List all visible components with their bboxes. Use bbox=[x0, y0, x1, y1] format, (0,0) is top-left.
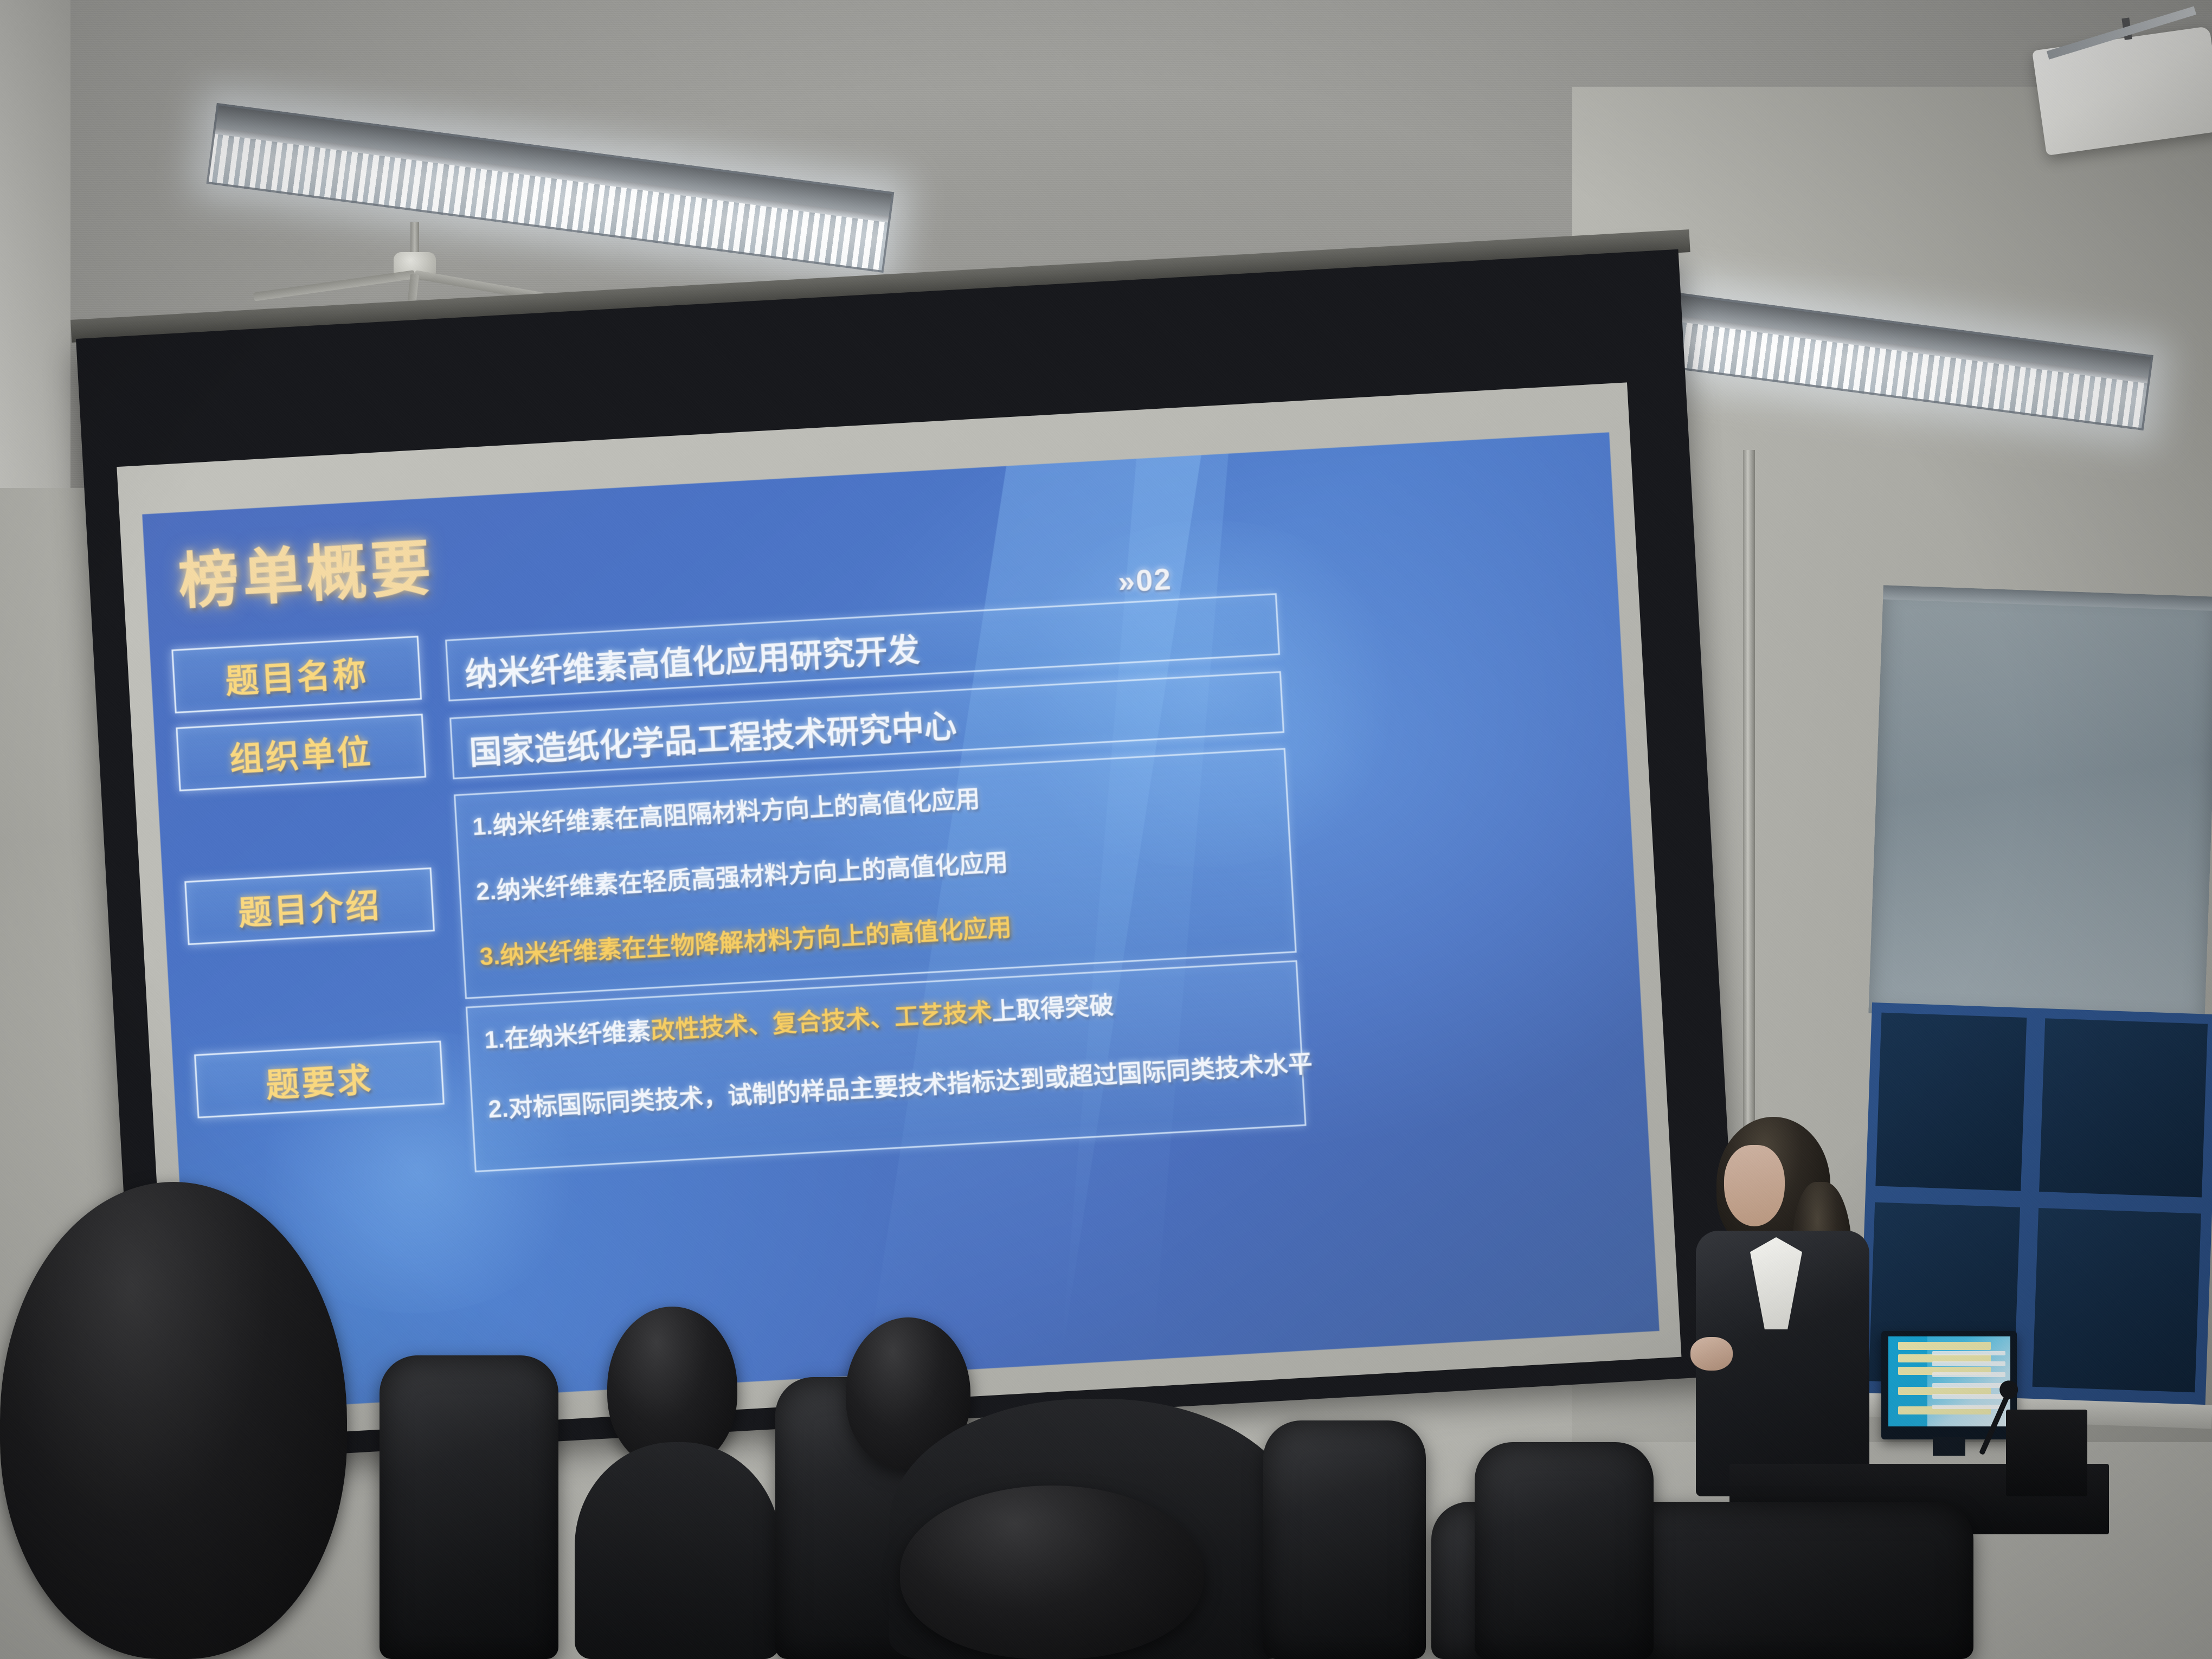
audience-head-1 bbox=[0, 1182, 347, 1659]
presenter-face bbox=[1724, 1145, 1785, 1226]
req-1-highlight: 改性技术、复合技术、工艺技术 bbox=[650, 998, 993, 1045]
row-content-3-line-2: 2.纳米纤维素在轻质高强材料方向上的高值化应用 bbox=[475, 843, 1009, 908]
row-label-2: 组织单位 bbox=[228, 724, 374, 781]
audience-chair-3 bbox=[1263, 1420, 1426, 1659]
audience-chair-1 bbox=[380, 1355, 558, 1659]
ceiling-fan-left bbox=[412, 222, 417, 228]
row-label-3: 题目介绍 bbox=[237, 878, 383, 935]
presenter-hand bbox=[1690, 1337, 1733, 1371]
row-content-1-line-1: 纳米纤维素高值化应用研究开发 bbox=[464, 623, 921, 696]
req-1-part-b: 上取得突破 bbox=[991, 991, 1115, 1025]
audience-chair-5 bbox=[1475, 1442, 1654, 1659]
page-number: »02 bbox=[1117, 561, 1173, 599]
row-content-3-line-1: 1.纳米纤维素在高阻隔材料方向上的高值化应用 bbox=[471, 779, 981, 842]
classroom-presentation-photo: 榜单概要 »02 题目名称 纳米纤维素高值化应用研究开发 组织单位 国家造纸化学… bbox=[0, 0, 2212, 1659]
presentation-slide: 榜单概要 »02 题目名称 纳米纤维素高值化应用研究开发 组织单位 国家造纸化学… bbox=[142, 432, 1659, 1413]
window-roller-blind[interactable] bbox=[1868, 585, 2212, 1025]
audience-head-4 bbox=[900, 1486, 1204, 1659]
presenter bbox=[1686, 1117, 1881, 1496]
left-wall bbox=[0, 0, 70, 542]
row-content-4-line-1: 1.在纳米纤维素改性技术、复合技术、工艺技术上取得突破 bbox=[483, 985, 1114, 1056]
slide-title: 榜单概要 bbox=[176, 519, 436, 621]
row-label-4: 题要求 bbox=[265, 1052, 375, 1107]
projection-screen: 榜单概要 »02 题目名称 纳米纤维素高值化应用研究开发 组织单位 国家造纸化学… bbox=[76, 249, 1741, 1465]
row-label-1: 题目名称 bbox=[224, 646, 370, 703]
row-label-box-1: 题目名称 bbox=[171, 636, 422, 713]
row-content-4-line-2: 2.对标国际同类技术，试制的样品主要技术指标达到或超过国际同类技术水平 bbox=[487, 1044, 1313, 1125]
req-1-part-a: 1.在纳米纤维素 bbox=[484, 1017, 652, 1054]
row-label-box-2: 组织单位 bbox=[176, 713, 426, 791]
desk-equipment-box bbox=[2006, 1410, 2087, 1496]
row-content-2-line-1: 国家造纸化学品工程技术研究中心 bbox=[468, 700, 957, 774]
row-label-box-3: 题目介绍 bbox=[184, 867, 435, 945]
audience-shoulders-2 bbox=[575, 1442, 781, 1659]
row-content-3-line-3: 3.纳米纤维素在生物降解材料方向上的高值化应用 bbox=[479, 907, 1013, 972]
